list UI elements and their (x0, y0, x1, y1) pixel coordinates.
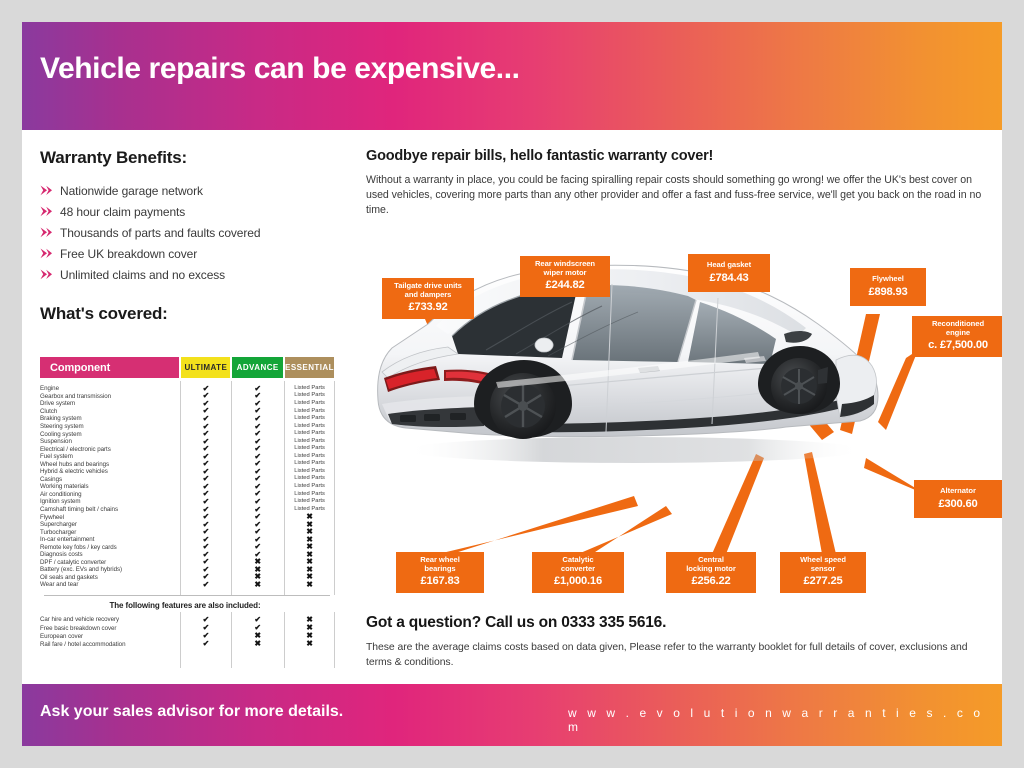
callout-title-line2: sensor (787, 565, 859, 574)
footer-message: Ask your sales advisor for more details. (40, 703, 343, 721)
left-column: Warranty Benefits: Nationwide garage net… (40, 148, 352, 324)
component-name: Camshaft timing belt / chains (40, 506, 180, 513)
col-header-essential: ESSENTIAL (285, 357, 334, 378)
component-name: Braking system (40, 415, 180, 422)
also-divider-1 (180, 612, 181, 668)
col-header-advance: ADVANCE (232, 357, 283, 378)
cell-essential: Listed Parts (285, 461, 334, 467)
cell-advance: ✖ (232, 581, 283, 589)
col-header-ultimate: ULTIMATE (181, 357, 230, 378)
cell-essential: Listed Parts (285, 393, 334, 399)
component-name: Gearbox and transmission (40, 393, 180, 400)
callout-alternator[interactable]: Alternator £300.60 (914, 480, 1002, 518)
callout-value: £256.22 (673, 575, 749, 588)
benefit-item: 48 hour claim payments (40, 201, 352, 222)
callout-title-line2: converter (539, 565, 617, 574)
callout-title-line2: engine (919, 329, 997, 338)
footer-website[interactable]: w w w . e v o l u t i o n w a r r a n t … (568, 706, 1002, 734)
callout-value: £733.92 (389, 301, 467, 314)
feature-name: Car hire and vehicle recovery (40, 616, 180, 623)
cell-essential: Listed Parts (285, 469, 334, 475)
cta-headline: Got a question? Call us on 0333 335 5616… (366, 614, 986, 632)
also-divider-3 (284, 612, 285, 668)
component-name: Clutch (40, 408, 180, 415)
component-name: Working materials (40, 483, 180, 490)
chevron-right-icon (40, 185, 60, 196)
callout-value: c. £7,500.00 (919, 339, 997, 352)
page-root: Vehicle repairs can be expensive... Warr… (0, 0, 1024, 768)
cell-essential: Listed Parts (285, 454, 334, 460)
component-name: Wheel hubs and bearings (40, 461, 180, 468)
component-name: Hybrid & electric vehicles (40, 468, 180, 475)
cell-essential: ✖ (285, 640, 334, 648)
table-divider-4 (334, 381, 335, 595)
table-divider-2 (231, 381, 232, 595)
footer-bar: Ask your sales advisor for more details.… (22, 684, 1002, 746)
component-name: Wear and tear (40, 581, 180, 588)
benefit-label: Unlimited claims and no excess (60, 268, 225, 282)
benefit-item: Free UK breakdown cover (40, 243, 352, 264)
brochure-sheet: Vehicle repairs can be expensive... Warr… (22, 22, 1002, 746)
benefits-list: Nationwide garage network48 hour claim p… (40, 180, 352, 285)
callout-rear-windscreen-wiper-motor[interactable]: Rear windscreen wiper motor £244.82 (520, 256, 610, 297)
callout-value: £300.60 (921, 498, 995, 511)
table-row: Wear and tear✔✖✖ (40, 581, 334, 589)
also-included-row: Free basic breakdown cover✔✔✖ (40, 624, 334, 632)
cell-ultimate: ✔ (182, 640, 231, 648)
callout-title-line1: Alternator (921, 487, 995, 496)
right-column: Goodbye repair bills, hello fantastic wa… (366, 148, 986, 218)
header-bar: Vehicle repairs can be expensive... (22, 22, 1002, 130)
component-name: Oil seals and gaskets (40, 574, 180, 581)
coverage-table-header: Component ULTIMATE ADVANCE ESSENTIAL (40, 357, 334, 378)
callout-reconditioned-engine[interactable]: Reconditioned engine c. £7,500.00 (912, 316, 1002, 357)
whats-covered-title: What's covered: (40, 304, 352, 324)
component-name: Battery (exc. EVs and hybrids) (40, 566, 180, 573)
cell-essential: Listed Parts (285, 476, 334, 482)
coverage-table: Component ULTIMATE ADVANCE ESSENTIAL Eng… (40, 357, 334, 673)
feature-name: Rail fare / hotel accommodation (40, 641, 180, 648)
cta-body-text: These are the average claims costs based… (366, 640, 986, 670)
coverage-table-body: Engine✔✔Listed PartsGearbox and transmis… (40, 385, 334, 589)
col-header-component: Component (40, 357, 179, 378)
callout-value: £1,000.16 (539, 575, 617, 588)
callout-rear-wheel-bearings[interactable]: Rear wheel bearings £167.83 (396, 552, 484, 593)
callout-value: £167.83 (403, 575, 477, 588)
callout-title-line2: and dampers (389, 291, 467, 300)
callout-value: £898.93 (857, 286, 919, 299)
chevron-right-icon (40, 227, 60, 238)
component-name: Diagnosis costs (40, 551, 180, 558)
benefit-label: Thousands of parts and faults covered (60, 226, 260, 240)
component-name: Fuel system (40, 453, 180, 460)
cell-ultimate: ✔ (182, 581, 231, 589)
callout-title-line2: locking motor (673, 565, 749, 574)
component-name: Drive system (40, 400, 180, 407)
cell-advance: ✖ (232, 640, 283, 648)
component-name: Remote key fobs / key cards (40, 544, 180, 551)
benefit-label: Free UK breakdown cover (60, 247, 197, 261)
cell-essential: Listed Parts (285, 439, 334, 445)
component-name: Supercharger (40, 521, 180, 528)
chevron-right-icon (40, 206, 60, 217)
cell-essential: Listed Parts (285, 492, 334, 498)
cta-block: Got a question? Call us on 0333 335 5616… (366, 614, 986, 670)
component-name: Air conditioning (40, 491, 180, 498)
component-name: Engine (40, 385, 180, 392)
component-name: DPF / catalytic converter (40, 559, 180, 566)
callout-central-locking-motor[interactable]: Central locking motor £256.22 (666, 552, 756, 593)
benefit-item: Unlimited claims and no excess (40, 264, 352, 285)
cell-essential: Listed Parts (285, 499, 334, 505)
callout-tailgate[interactable]: Tailgate drive units and dampers £733.92 (382, 278, 474, 319)
right-body-text: Without a warranty in place, you could b… (366, 173, 986, 218)
feature-name: European cover (40, 633, 180, 640)
callout-title-line1: Head gasket (695, 261, 763, 270)
chevron-right-icon (40, 248, 60, 259)
benefit-label: 48 hour claim payments (60, 205, 185, 219)
section-divider (44, 595, 330, 596)
callout-title-line2: bearings (403, 565, 477, 574)
cell-essential: Listed Parts (285, 431, 334, 437)
component-name: Electrical / electronic parts (40, 446, 180, 453)
cell-essential: Listed Parts (285, 416, 334, 422)
also-included-title: The following features are also included… (40, 601, 330, 610)
cell-essential: Listed Parts (285, 424, 334, 430)
component-name: Ignition system (40, 498, 180, 505)
callout-wheel-speed-sensor[interactable]: Wheel speed sensor £277.25 (780, 552, 866, 593)
callout-head-gasket[interactable]: Head gasket £784.43 (688, 254, 770, 292)
cell-essential: Listed Parts (285, 401, 334, 407)
benefit-label: Nationwide garage network (60, 184, 203, 198)
callout-title-line2: wiper motor (527, 269, 603, 278)
chevron-right-icon (40, 269, 60, 280)
cell-essential: Listed Parts (285, 446, 334, 452)
cell-essential: ✖ (285, 581, 334, 589)
table-divider-1 (180, 381, 181, 595)
cell-essential: Listed Parts (285, 484, 334, 490)
callout-flywheel[interactable]: Flywheel £898.93 (850, 268, 926, 306)
component-name: In-car entertainment (40, 536, 180, 543)
table-divider-3 (284, 381, 285, 595)
callout-value: £244.82 (527, 279, 603, 292)
cell-essential: Listed Parts (285, 409, 334, 415)
right-headline: Goodbye repair bills, hello fantastic wa… (366, 148, 986, 164)
benefit-item: Thousands of parts and faults covered (40, 222, 352, 243)
benefit-item: Nationwide garage network (40, 180, 352, 201)
component-name: Cooling system (40, 431, 180, 438)
also-included-row: Rail fare / hotel accommodation✔✖✖ (40, 640, 334, 648)
feature-name: Free basic breakdown cover (40, 625, 180, 632)
callout-catalytic-converter[interactable]: Catalytic converter £1,000.16 (532, 552, 624, 593)
also-included-body: Car hire and vehicle recovery✔✔✖Free bas… (40, 616, 334, 649)
car-diagram: Tailgate drive units and dampers £733.92… (366, 254, 1002, 614)
cell-essential: Listed Parts (285, 386, 334, 392)
also-divider-4 (334, 612, 335, 668)
callout-value: £277.25 (787, 575, 859, 588)
also-divider-2 (231, 612, 232, 668)
also-included-row: European cover✔✖✖ (40, 632, 334, 640)
also-included-row: Car hire and vehicle recovery✔✔✖ (40, 616, 334, 624)
component-name: Casings (40, 476, 180, 483)
component-name: Steering system (40, 423, 180, 430)
component-name: Turbocharger (40, 529, 180, 536)
page-title: Vehicle repairs can be expensive... (40, 52, 520, 86)
component-name: Suspension (40, 438, 180, 445)
callout-value: £784.43 (695, 272, 763, 285)
component-name: Flywheel (40, 514, 180, 521)
warranty-benefits-title: Warranty Benefits: (40, 148, 352, 168)
callout-title-line1: Flywheel (857, 275, 919, 284)
